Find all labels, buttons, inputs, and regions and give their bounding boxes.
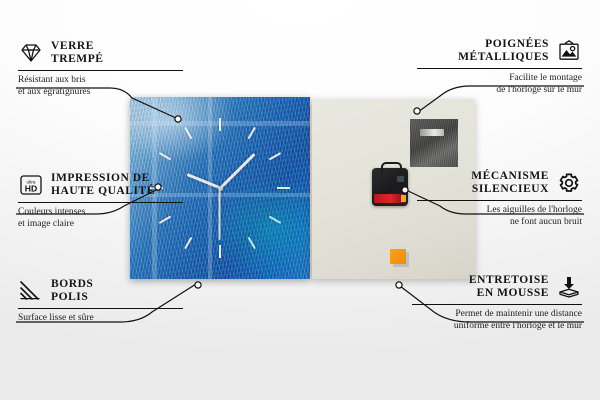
clock-hour-hand: [186, 173, 221, 189]
feature-bords-polis: BORDSPOLIS Surface lisse et sûre: [18, 278, 183, 325]
feature-entretoise-en-mousse: ENTRETOISEEN MOUSSE Permet de maintenir …: [412, 274, 582, 332]
divider: [412, 304, 582, 305]
divider: [417, 200, 582, 201]
feature-description: Les aiguilles de l'horlogene font aucun …: [417, 205, 582, 228]
divider: [18, 202, 183, 203]
ultra-hd-icon: ultra HD: [18, 173, 44, 197]
divider: [18, 308, 183, 309]
divider: [18, 70, 183, 71]
clock-minute-hand: [219, 153, 255, 189]
feature-title: VERRETREMPÉ: [51, 40, 104, 66]
foam-spacer: [390, 249, 406, 264]
divider: [417, 68, 582, 69]
feature-title: ENTRETOISEEN MOUSSE: [469, 274, 549, 300]
metal-hanger-plate: [410, 119, 458, 167]
feature-title: IMPRESSION DEHAUTE QUALITÉ: [51, 172, 155, 198]
product-infographic: VERRETREMPÉ Résistant aux briset aux égr…: [0, 0, 600, 400]
feature-description: Facilite le montagede l'horloge sur le m…: [417, 73, 582, 96]
feature-poignees-metalliques: POIGNÉESMÉTALLIQUES Facilite le montaged…: [417, 38, 582, 96]
mechanism-bail: [381, 162, 402, 173]
gear-icon: [556, 171, 582, 195]
feature-description: Résistant aux briset aux égratignures: [18, 75, 183, 98]
battery: [374, 194, 404, 203]
diamond-icon: [18, 41, 44, 65]
feature-impression-haute-qualite: ultra HD IMPRESSION DEHAUTE QUALITÉ Coul…: [18, 172, 183, 230]
hanger-slot: [420, 129, 444, 136]
polished-edges-icon: [18, 279, 44, 303]
feature-verre-trempe: VERRETREMPÉ Résistant aux briset aux égr…: [18, 40, 183, 98]
feature-description: Couleurs intenseset image claire: [18, 207, 183, 230]
feature-title: MÉCANISMESILENCIEUX: [471, 170, 549, 196]
picture-hanger-icon: [556, 39, 582, 63]
clock-second-hand: [219, 188, 221, 240]
feature-mecanisme-silencieux: MÉCANISMESILENCIEUX Les aiguilles de l'h…: [417, 170, 582, 228]
feature-description: Permet de maintenir une distanceuniforme…: [412, 309, 582, 332]
feature-description: Surface lisse et sûre: [18, 313, 183, 325]
svg-text:HD: HD: [25, 183, 37, 193]
clock-mechanism: [372, 168, 408, 206]
feature-title: POIGNÉESMÉTALLIQUES: [458, 38, 549, 64]
feature-title: BORDSPOLIS: [51, 278, 93, 304]
mechanism-chip: [397, 176, 404, 182]
foam-spacer-icon: [556, 275, 582, 299]
clock-center-pin: [218, 186, 223, 191]
